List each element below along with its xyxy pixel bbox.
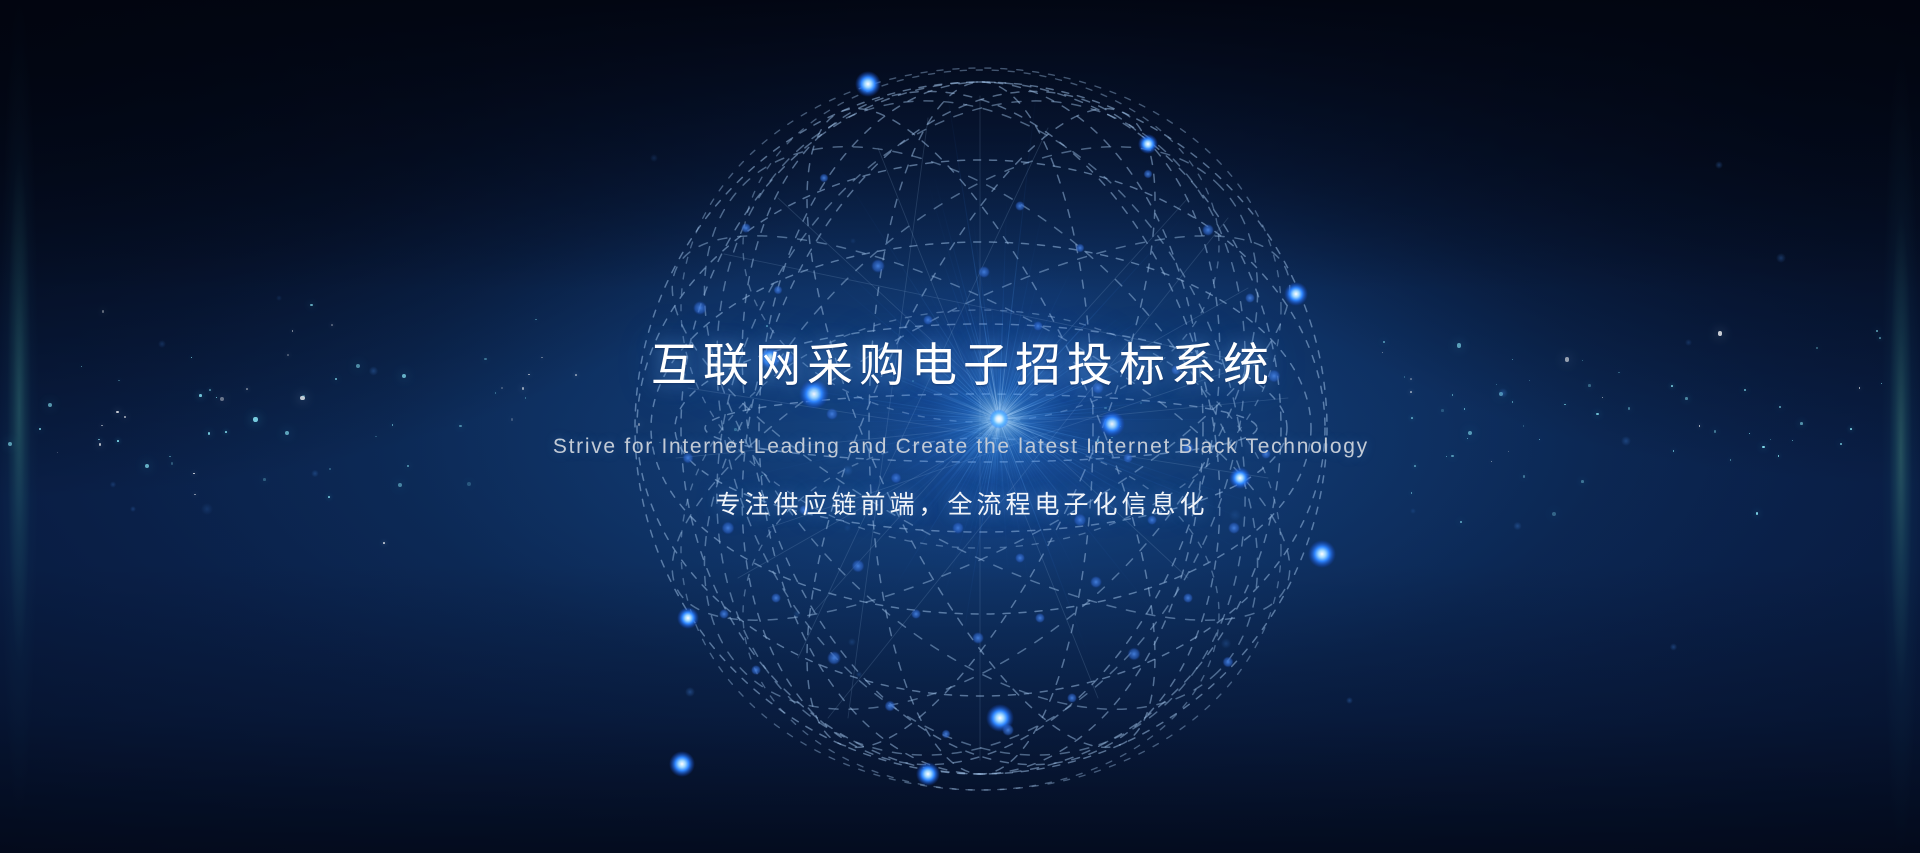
particle <box>1523 475 1526 478</box>
particle <box>467 482 471 486</box>
particle <box>1581 480 1584 483</box>
particle <box>1441 409 1444 412</box>
particle <box>1685 397 1688 400</box>
particle <box>310 304 313 307</box>
particle <box>1512 401 1514 403</box>
particle <box>193 473 195 475</box>
particle <box>102 310 105 313</box>
particle <box>171 462 174 465</box>
particle <box>1779 406 1782 409</box>
particle <box>300 396 304 400</box>
particle <box>292 330 294 332</box>
bokeh-dot <box>1776 253 1785 262</box>
particle <box>39 428 42 431</box>
burst-core <box>990 410 1008 428</box>
particle <box>124 416 127 419</box>
bokeh-dot <box>1513 522 1522 531</box>
particle <box>1602 397 1604 399</box>
particle <box>392 424 394 426</box>
particle <box>101 425 103 427</box>
particle <box>511 418 514 421</box>
particle <box>525 397 527 399</box>
particle <box>535 319 537 321</box>
particle <box>1596 413 1599 416</box>
particle <box>1523 425 1525 427</box>
particle <box>48 403 52 407</box>
particle <box>1414 465 1416 467</box>
particle <box>329 468 332 471</box>
hero-banner: 互联网采购电子招投标系统 Strive for Internet Leading… <box>0 0 1920 853</box>
particle <box>220 397 224 401</box>
bokeh-dot <box>311 470 319 478</box>
particle <box>1411 417 1413 419</box>
particle <box>1850 428 1852 430</box>
bokeh-dot <box>1670 643 1678 651</box>
particle <box>1628 407 1631 410</box>
particle <box>459 425 462 428</box>
particle <box>145 464 149 468</box>
particle <box>216 397 218 399</box>
bokeh-dot <box>276 295 283 302</box>
page-title: 互联网采购电子招投标系统 <box>0 335 1920 395</box>
particle <box>331 324 333 326</box>
particle <box>383 542 385 544</box>
particle <box>1876 330 1879 333</box>
particle <box>116 411 119 414</box>
subtitle-english: Strive for Internet Leading and Create t… <box>0 432 1920 462</box>
particle <box>1564 404 1566 406</box>
particle <box>263 478 266 481</box>
bokeh-dot <box>1346 697 1352 703</box>
particle <box>1800 422 1803 425</box>
particle <box>1699 425 1701 427</box>
bokeh-dot <box>1715 161 1723 169</box>
particle <box>302 395 305 398</box>
subtitle-chinese: 专注供应链前端，全流程电子化信息化 <box>0 487 1920 523</box>
particle <box>253 417 257 421</box>
particle <box>1464 408 1466 410</box>
particle <box>407 465 410 468</box>
